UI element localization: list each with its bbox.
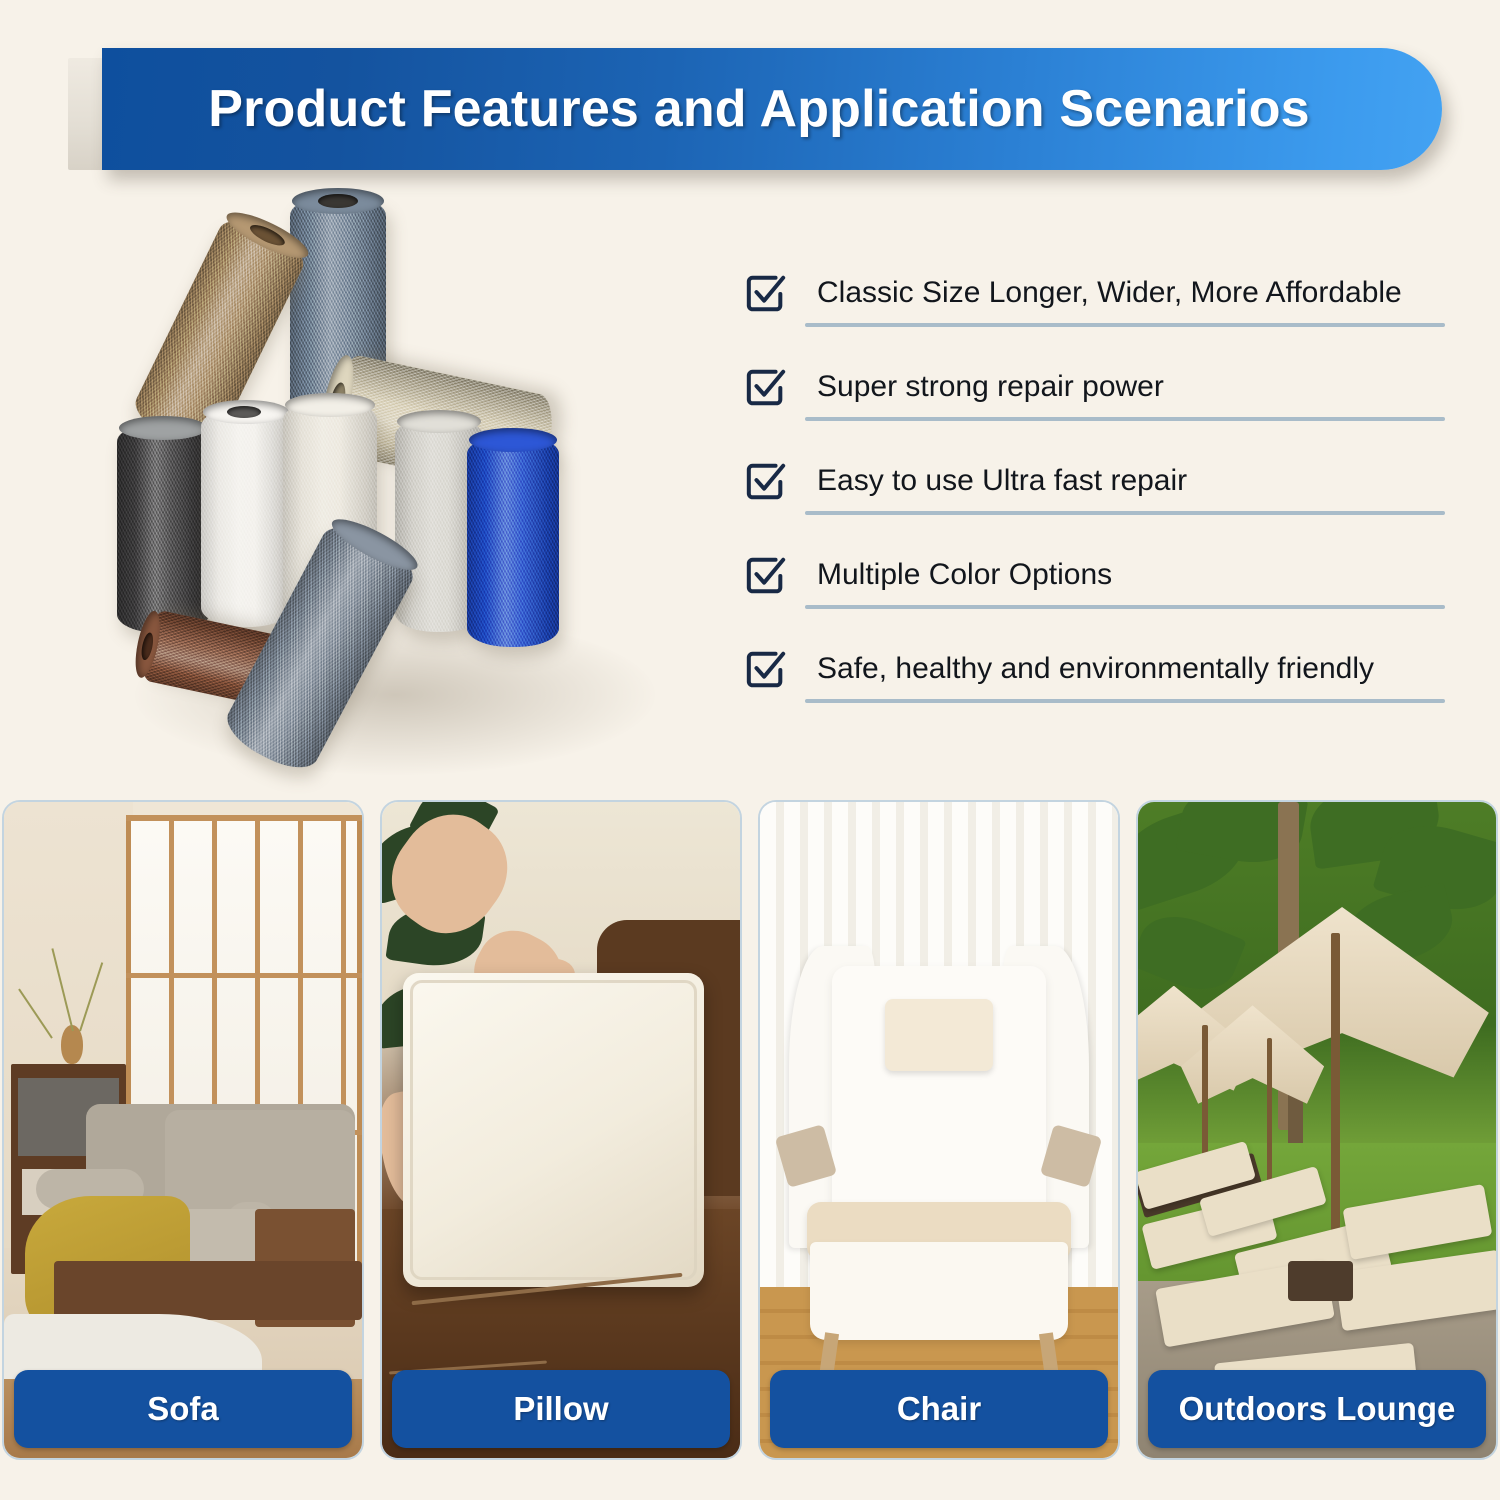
feature-divider	[805, 511, 1445, 515]
outdoors-lounge-photo	[1138, 802, 1496, 1458]
roll-cap	[119, 416, 207, 440]
product-photo	[95, 185, 695, 770]
header-banner: Product Features and Application Scenari…	[0, 48, 1500, 178]
feature-label: Safe, healthy and environmentally friend…	[817, 647, 1445, 691]
feature-item: Classic Size Longer, Wider, More Afforda…	[745, 265, 1445, 359]
roll-white	[201, 407, 291, 627]
scenario-label-bar: Chair	[770, 1370, 1108, 1448]
scenario-label: Pillow	[513, 1390, 608, 1428]
feature-item: Safe, healthy and environmentally friend…	[745, 641, 1445, 735]
scenario-panels: Sofa Pillow	[0, 800, 1500, 1500]
scenario-label-bar: Pillow	[392, 1370, 730, 1448]
roll-royal-blue	[467, 435, 559, 647]
scenario-label: Outdoors Lounge	[1179, 1390, 1456, 1428]
checkbox-checked-icon	[745, 461, 787, 503]
roll-cap	[397, 410, 481, 433]
feature-item: Multiple Color Options	[745, 547, 1445, 641]
scenario-panel-sofa[interactable]: Sofa	[2, 800, 364, 1460]
feature-divider	[805, 605, 1445, 609]
roll-cap	[285, 393, 375, 417]
banner-pill: Product Features and Application Scenari…	[102, 48, 1442, 170]
roll-core	[318, 194, 358, 208]
feature-divider	[805, 699, 1445, 703]
chair-photo	[760, 802, 1118, 1458]
roll-cap	[469, 428, 557, 452]
scenario-panel-pillow[interactable]: Pillow	[380, 800, 742, 1460]
checkbox-checked-icon	[745, 273, 787, 315]
product-feature-infographic: Product Features and Application Scenari…	[0, 0, 1500, 1500]
scenario-label: Chair	[897, 1390, 981, 1428]
checkbox-checked-icon	[745, 649, 787, 691]
feature-divider	[805, 417, 1445, 421]
scenario-panel-outdoors-lounge[interactable]: Outdoors Lounge	[1136, 800, 1498, 1460]
checkbox-checked-icon	[745, 367, 787, 409]
feature-list: Classic Size Longer, Wider, More Afforda…	[745, 265, 1445, 735]
feature-item: Easy to use Ultra fast repair	[745, 453, 1445, 547]
scenario-label: Sofa	[147, 1390, 219, 1428]
page-title: Product Features and Application Scenari…	[208, 79, 1336, 139]
feature-label: Classic Size Longer, Wider, More Afforda…	[817, 271, 1445, 315]
scenario-label-bar: Outdoors Lounge	[1148, 1370, 1486, 1448]
scenario-label-bar: Sofa	[14, 1370, 352, 1448]
roll-charcoal	[117, 423, 209, 633]
feature-item: Super strong repair power	[745, 359, 1445, 453]
feature-label: Super strong repair power	[817, 365, 1445, 409]
roll-core	[227, 406, 261, 418]
feature-label: Multiple Color Options	[817, 553, 1445, 597]
pillow-photo	[382, 802, 740, 1458]
checkbox-checked-icon	[745, 555, 787, 597]
sofa-photo	[4, 802, 362, 1458]
feature-divider	[805, 323, 1445, 327]
feature-label: Easy to use Ultra fast repair	[817, 459, 1445, 503]
scenario-panel-chair[interactable]: Chair	[758, 800, 1120, 1460]
